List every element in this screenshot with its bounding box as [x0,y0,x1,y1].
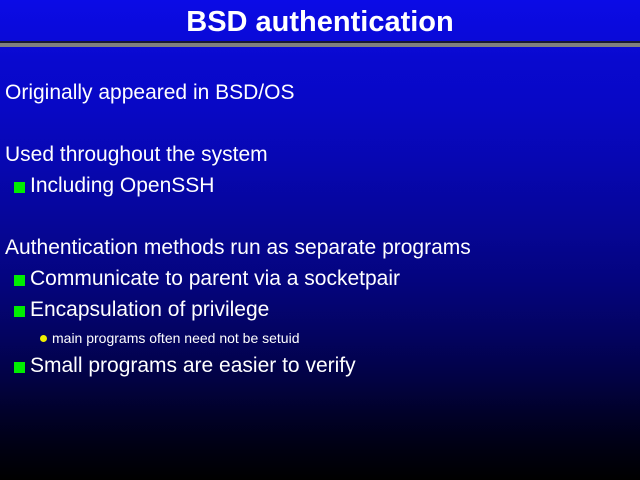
divider-light-band [0,43,640,47]
bullet-line: Used throughout the system [0,142,640,168]
slide-title-block: BSD authentication [0,6,640,38]
bullet-line: Small programs are easier to verify [0,353,640,379]
bullet-text: Originally appeared in BSD/OS [5,81,294,104]
bullet-text: Communicate to parent via a socketpair [30,267,400,290]
slide-body: Originally appeared in BSD/OSUsed throug… [0,80,640,379]
bullet-text: Used throughout the system [5,143,268,166]
bullet-line: Authentication methods run as separate p… [0,235,640,261]
bullet-text: main programs often need not be setuid [52,330,300,346]
line-spacer [0,106,640,142]
green-square-bullet-icon [14,182,25,193]
slide-title: BSD authentication [186,6,453,38]
line-spacer [0,199,640,235]
bullet-line: main programs often need not be setuid [0,328,640,348]
bullet-line: Encapsulation of privilege [0,297,640,323]
green-square-bullet-icon [14,362,25,373]
bullet-text: Authentication methods run as separate p… [5,236,471,259]
bullet-text: Encapsulation of privilege [30,298,269,321]
green-square-bullet-icon [14,306,25,317]
bullet-line: Communicate to parent via a socketpair [0,266,640,292]
presentation-slide: BSD authentication Originally appeared i… [0,0,640,480]
bullet-text: Including OpenSSH [30,174,214,197]
green-square-bullet-icon [14,275,25,286]
yellow-dot-bullet-icon [40,335,47,342]
title-divider-rule [0,41,640,47]
bullet-line: Originally appeared in BSD/OS [0,80,640,106]
bullet-line: Including OpenSSH [0,173,640,199]
bullet-text: Small programs are easier to verify [30,354,356,377]
